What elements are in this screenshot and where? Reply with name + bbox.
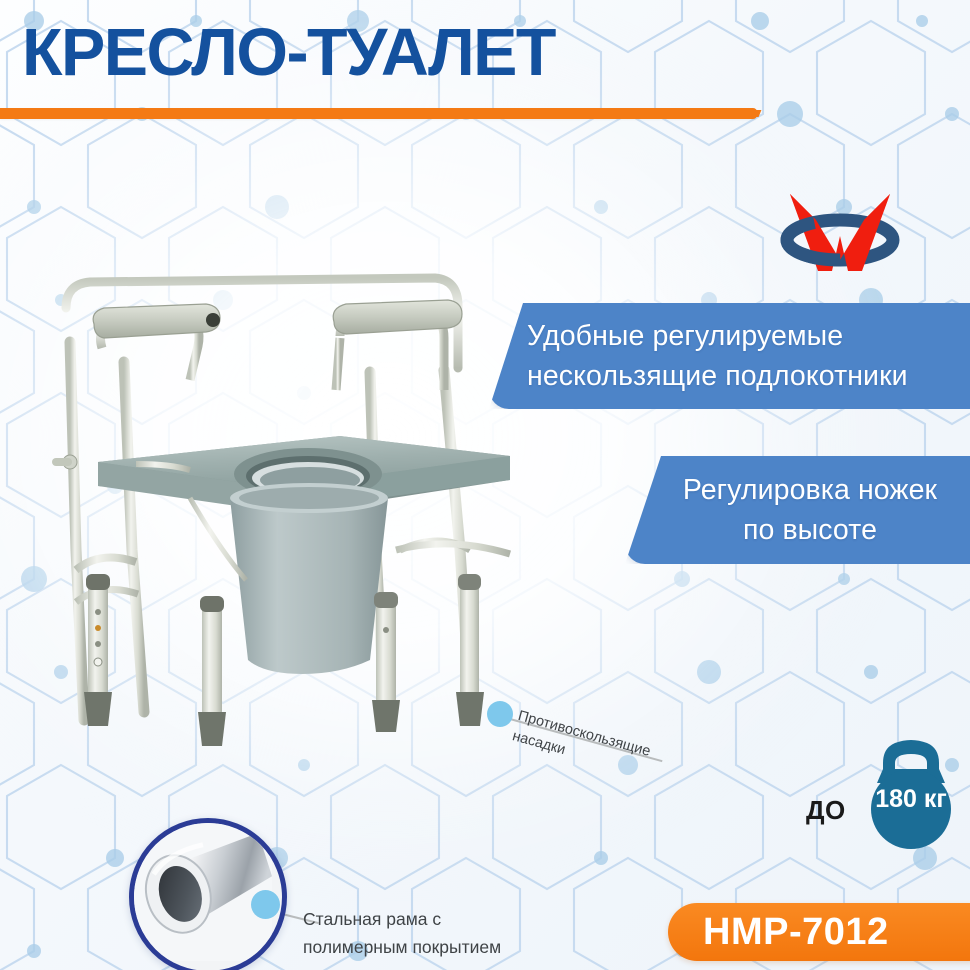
callout-label-steel-frame: Стальная рама с полимерным покрытием xyxy=(303,905,501,962)
feature-banner-leg-height: Регулировка ножек по высоте xyxy=(625,456,970,564)
page-title: КРЕСЛО-ТУАЛЕТ xyxy=(22,19,555,86)
model-code-badge: HMP-7012 xyxy=(668,903,970,961)
weight-limit-value: 180 кг xyxy=(857,785,965,814)
brand-logo-m-icon xyxy=(760,178,920,288)
product-image-commode-chair xyxy=(40,250,560,810)
feature-banner-armrests-text: Удобные регулируемые нескользящие подлок… xyxy=(515,316,908,397)
title-accent-bar xyxy=(0,108,757,119)
weight-limit-prefix: ДО xyxy=(806,795,846,826)
feature-banner-leg-height-text: Регулировка ножек по высоте xyxy=(651,470,955,551)
model-code-text: HMP-7012 xyxy=(668,911,889,954)
feature-banner-armrests: Удобные регулируемые нескользящие подлок… xyxy=(489,303,970,409)
callout-dot-steel-frame xyxy=(251,890,280,919)
callout-dot-anti-slip-tips xyxy=(487,701,513,727)
infographic-canvas: КРЕСЛО-ТУАЛЕТ xyxy=(0,0,970,970)
